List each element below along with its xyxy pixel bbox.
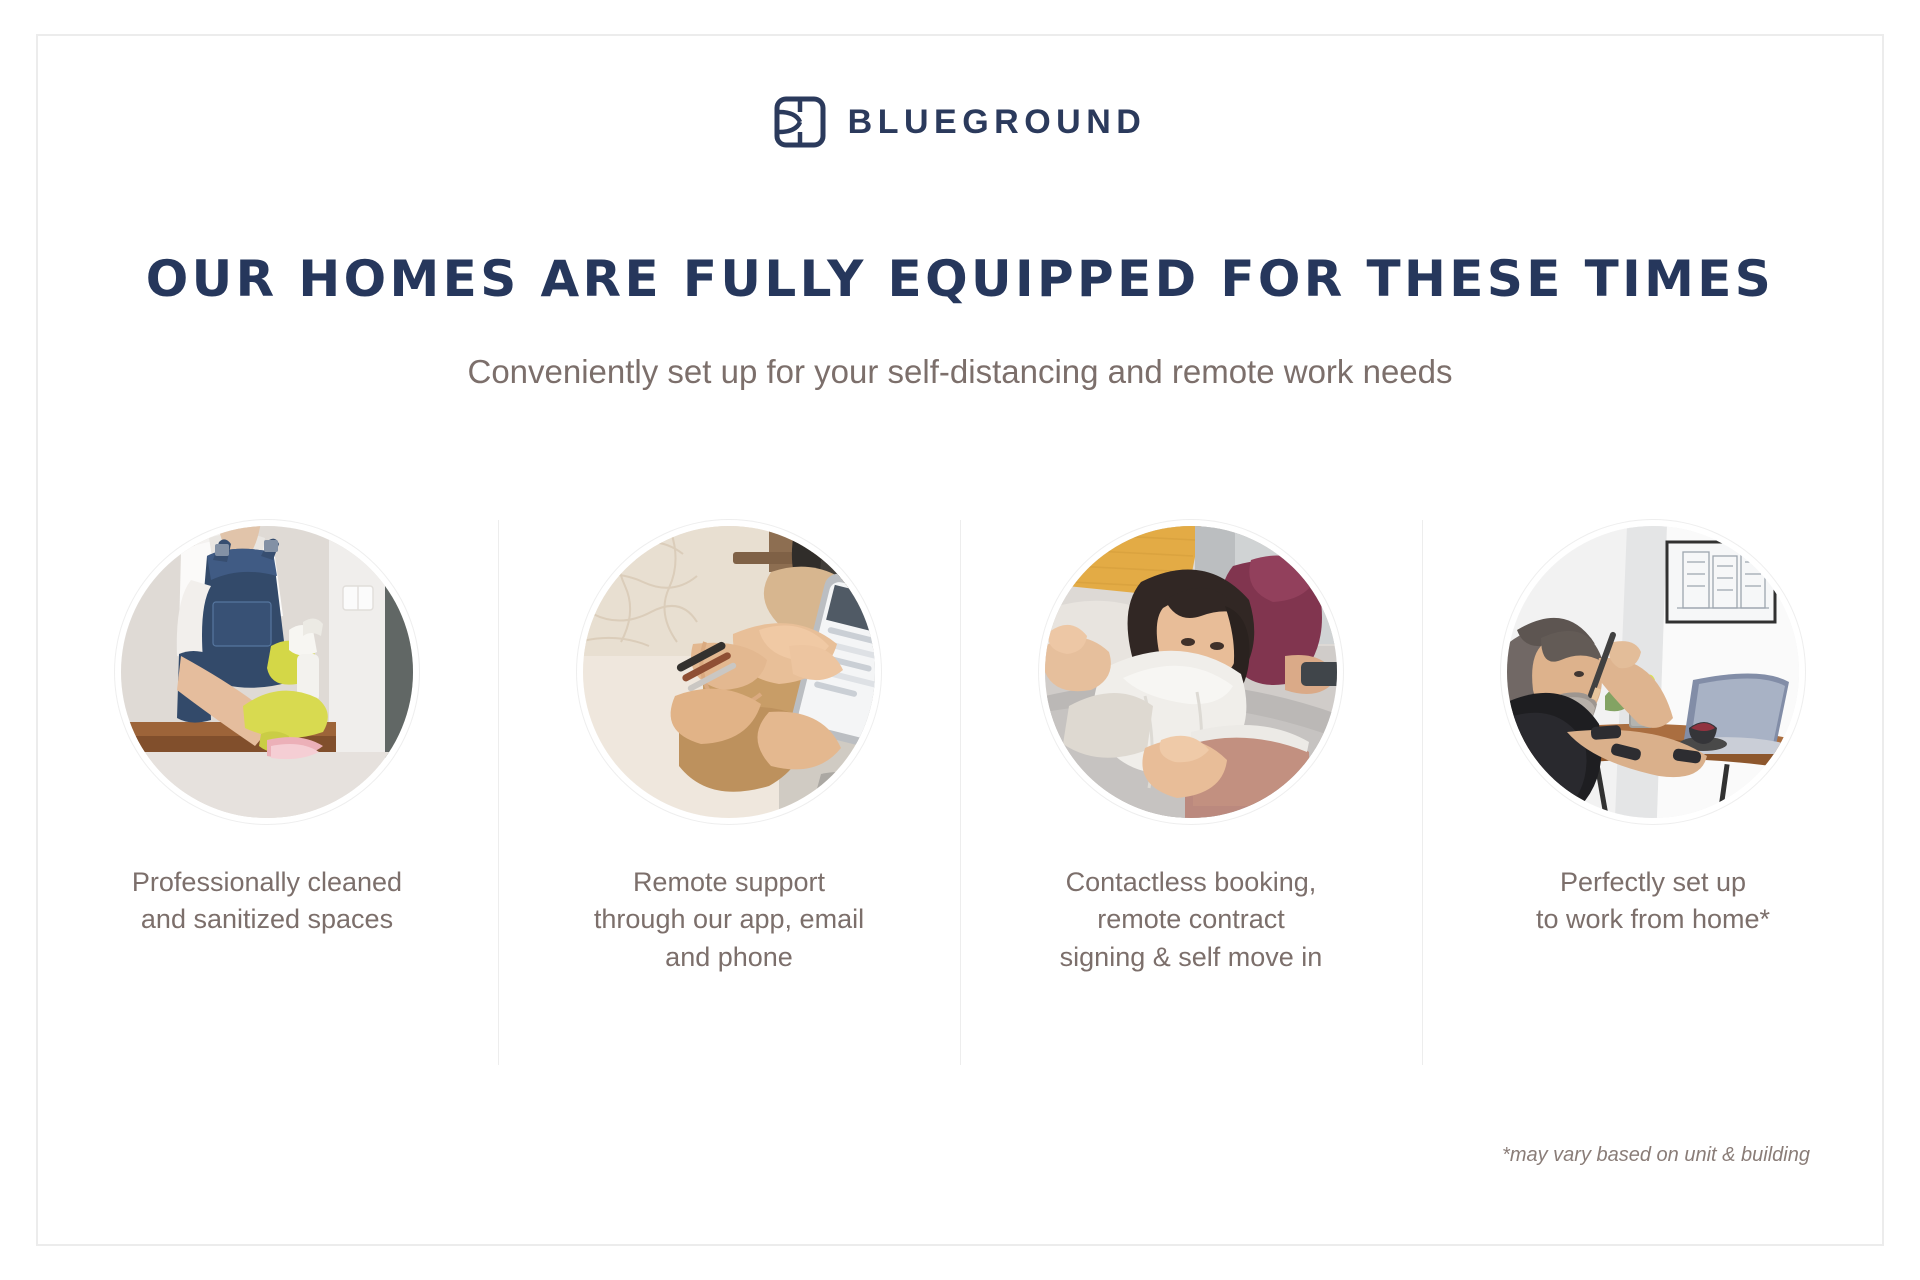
footnote-disclaimer: *may vary based on unit & building [1502,1144,1810,1167]
feature-caption: Remote support through our app, email an… [594,864,864,976]
feature-item-cleaning: Professionally cleaned and sanitized spa… [36,520,498,1065]
tablet-booking-photo [1045,526,1337,818]
blueground-logo-icon [774,96,826,148]
work-from-home-photo [1507,526,1799,818]
feature-caption: Contactless booking, remote contract sig… [1060,864,1323,976]
page-subtitle: Conveniently set up for your self-distan… [0,352,1920,392]
feature-item-remote-support: Remote support through our app, email an… [498,520,960,1065]
work-from-home-photo-illustration [1507,526,1799,818]
feature-item-work-from-home: Perfectly set up to work from home* [1422,520,1884,1065]
phone-support-photo-illustration [583,526,875,818]
feature-list: Professionally cleaned and sanitized spa… [36,520,1884,1065]
brand-wordmark: BLUEGROUND [848,105,1147,139]
brand-bar: BLUEGROUND [0,96,1920,148]
cleaning-photo [121,526,413,818]
feature-item-contactless-booking: Contactless booking, remote contract sig… [960,520,1422,1065]
tablet-booking-photo-illustration [1045,526,1337,818]
phone-support-photo [583,526,875,818]
cleaning-photo-illustration [121,526,413,818]
feature-caption: Perfectly set up to work from home* [1536,864,1770,939]
feature-caption: Professionally cleaned and sanitized spa… [132,864,402,939]
page-title: OUR HOMES ARE FULLY EQUIPPED FOR THESE T… [0,254,1920,304]
